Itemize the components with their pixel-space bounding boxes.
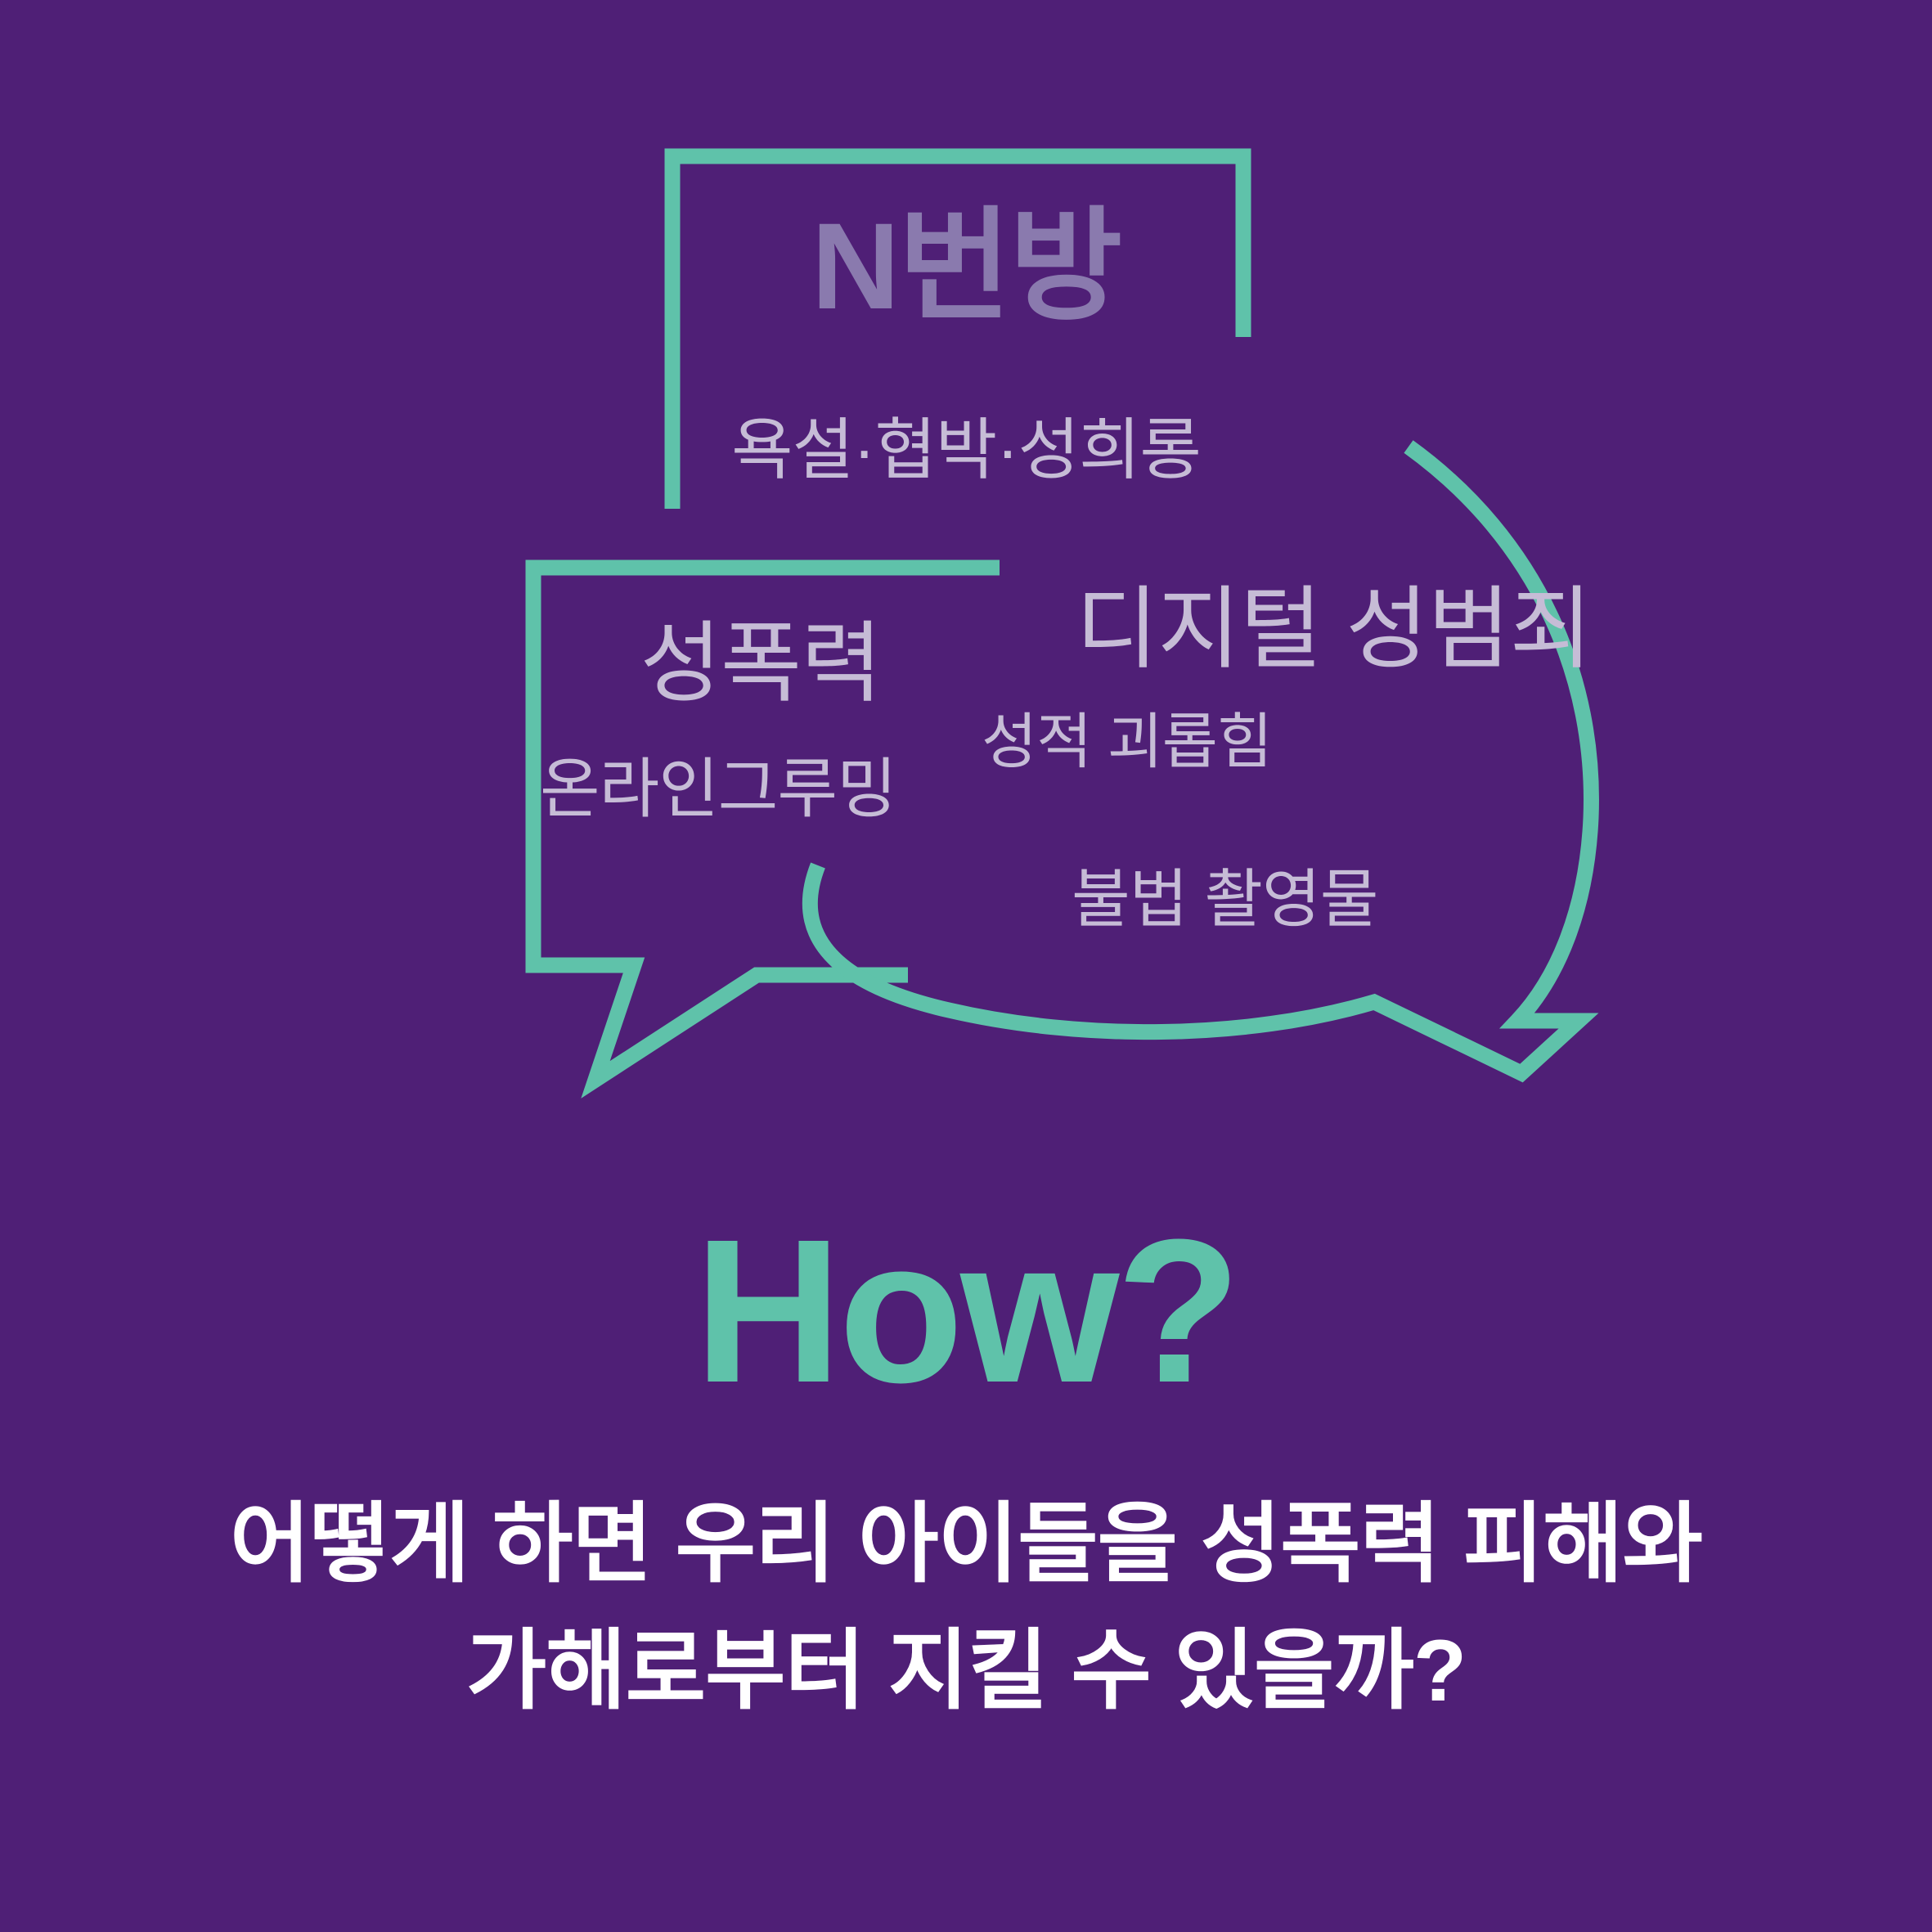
question-block: 어떻게 하면 우리 아이들을 성폭력 피해와 가해로부터 지킬 수 있을까? (131, 1480, 1801, 1734)
keyword-sexual-harassment: 성적 괴롭힘 (982, 712, 1272, 772)
keyword-online-grooming: 온라인그루밍 (540, 757, 867, 822)
keyword-n-beonbang: N번방 (0, 204, 1932, 327)
question-line-2: 가해로부터 지킬 수 있을까? (131, 1607, 1801, 1734)
keyword-insult-threat-harassment: 욕설·협박·성희롱 (0, 417, 1932, 484)
headline-how: How? (0, 1209, 1932, 1413)
keyword-illegal-filming: 불법 촬영물 (1072, 867, 1377, 931)
question-line-1: 어떻게 하면 우리 아이들을 성폭력 피해와 (131, 1480, 1801, 1607)
poster-canvas: N번방 욕설·협박·성희롱 성폭력 온라인그루밍 디지털 성범죄 성적 괴롭힘 … (0, 0, 1932, 1932)
keyword-sexual-violence: 성폭력 (523, 619, 998, 708)
keyword-digital-sex-crime: 디지털 성범죄 (1076, 585, 1592, 675)
